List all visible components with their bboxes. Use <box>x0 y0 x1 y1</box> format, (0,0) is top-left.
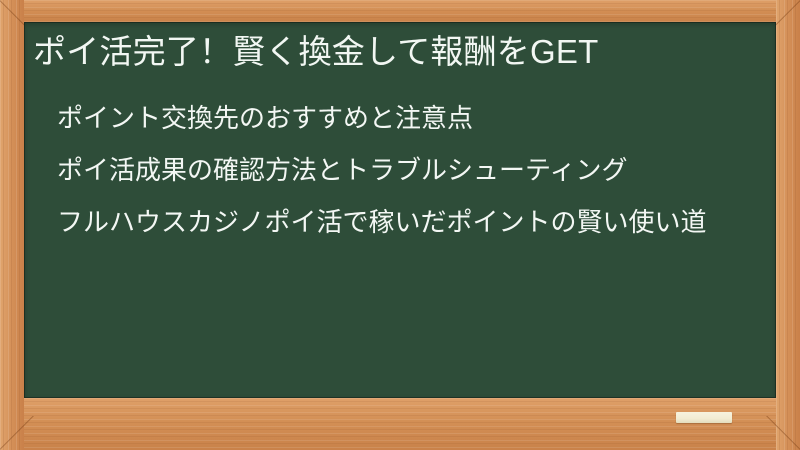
list-item: フルハウスカジノポイ活で稼いだポイントの賢い使い道 <box>57 204 762 240</box>
chalkboard-content: ポイ活完了！賢く換金して報酬をGET ポイント交換先のおすすめと注意点 ポイ活成… <box>24 22 776 398</box>
list-item: ポイント交換先のおすすめと注意点 <box>57 100 762 136</box>
chalkboard-surface: ポイ活完了！賢く換金して報酬をGET ポイント交換先のおすすめと注意点 ポイ活成… <box>24 22 776 398</box>
chalk-stick-icon <box>676 412 732 423</box>
board-title: ポイ活完了！賢く換金して報酬をGET <box>33 30 766 74</box>
frame-right-rail <box>776 0 800 450</box>
frame-left-rail <box>0 0 24 450</box>
list-item: ポイ活成果の確認方法とトラブルシューティング <box>57 152 762 188</box>
frame-bottom-ledge <box>0 398 800 450</box>
board-topic-list: ポイント交換先のおすすめと注意点 ポイ活成果の確認方法とトラブルシューティング … <box>57 100 762 240</box>
chalkboard-slide: ポイ活完了！賢く換金して報酬をGET ポイント交換先のおすすめと注意点 ポイ活成… <box>0 0 800 450</box>
frame-top-rail <box>0 0 800 22</box>
